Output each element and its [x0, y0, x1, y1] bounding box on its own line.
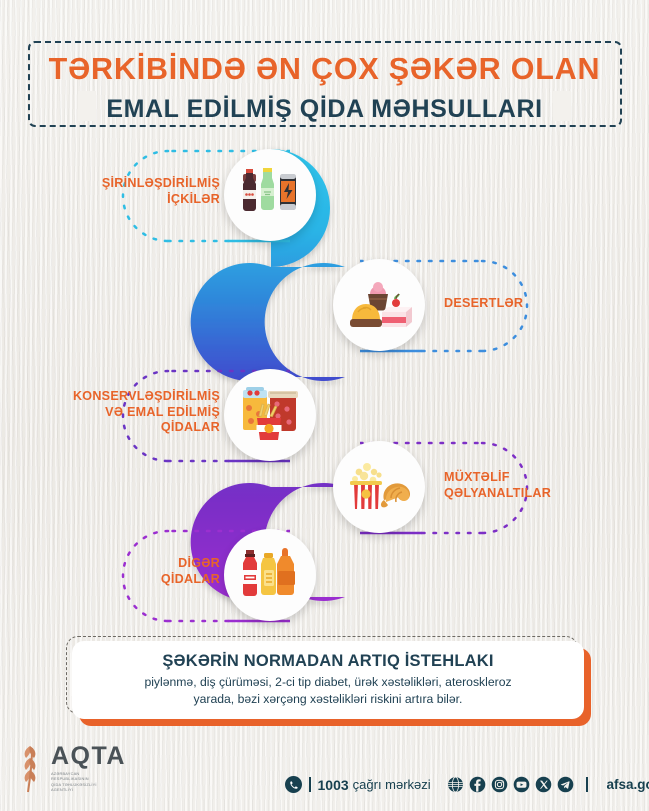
row-icon-circle-5[interactable]	[224, 529, 316, 621]
page-title-line1: TƏRKİBİNDƏ ƏN ÇOX ŞƏKƏR OLAN	[0, 52, 649, 87]
phone-icon	[285, 776, 302, 793]
aqta-logo[interactable]: AQTA AZƏRBAYCAN RESPUBLİKASININ QİDA TƏH…	[14, 742, 126, 794]
canned-food-icon	[237, 382, 303, 448]
row-label-5: DİGƏR QİDALAR	[68, 556, 220, 587]
warning-body: piylənmə, diş çürüməsi, 2-ci tip diabet,…	[144, 674, 511, 708]
row-icon-circle-4[interactable]	[333, 441, 425, 533]
logo-subtitle: AZƏRBAYCAN RESPUBLİKASININ QİDA TƏHLÜKƏS…	[51, 771, 126, 791]
call-center-label: çağrı mərkəzi	[353, 777, 431, 792]
footer-divider-1	[309, 777, 311, 792]
row-icon-circle-1[interactable]	[224, 149, 316, 241]
row-label-2: DESERTLƏR	[444, 296, 604, 312]
call-center-number: 1003	[318, 777, 349, 793]
row-label-4: MÜXTƏLİF QƏLYANALTILAR	[444, 470, 614, 501]
facebook-icon[interactable]	[469, 776, 486, 793]
logo-wordmark: AQTA	[51, 744, 126, 769]
footer-divider-2	[586, 777, 588, 792]
warning-card: ŞƏKƏRİN NORMADAN ARTIQ İSTEHLAKI piylənm…	[72, 641, 584, 719]
sauces-icon	[237, 542, 303, 608]
website-link[interactable]: afsa.gov.az	[607, 777, 649, 792]
row-label-1: ŞİRİNLƏŞDİRİLMİŞ İÇKİLƏR	[68, 176, 220, 207]
page-title-line2: EMAL EDİLMİŞ QİDA MƏHSULLARI	[0, 95, 649, 124]
instagram-icon[interactable]	[491, 776, 508, 793]
drinks-icon	[237, 162, 303, 228]
telegram-icon[interactable]	[557, 776, 574, 793]
snacks-icon	[346, 454, 412, 520]
desserts-icon	[346, 272, 412, 338]
row-icon-circle-2[interactable]	[333, 259, 425, 351]
wheat-icon	[14, 742, 46, 794]
globe-icon[interactable]	[447, 776, 464, 793]
x-icon[interactable]	[535, 776, 552, 793]
row-label-3: KONSERVLƏŞDİRİLMİŞ VƏ EMAL EDİLMİŞ QİDAL…	[62, 389, 220, 436]
call-center-info[interactable]: 1003 çağrı mərkəzi	[285, 776, 431, 793]
row-icon-circle-3[interactable]	[224, 369, 316, 461]
warning-heading: ŞƏKƏRİN NORMADAN ARTIQ İSTEHLAKI	[162, 652, 493, 671]
youtube-icon[interactable]	[513, 776, 530, 793]
footer: AQTA AZƏRBAYCAN RESPUBLİKASININ QİDA TƏH…	[0, 736, 649, 811]
social-links[interactable]: afsa.gov.az	[447, 776, 649, 793]
infographic-stage: TƏRKİBİNDƏ ƏN ÇOX ŞƏKƏR OLAN EMAL EDİLMİ…	[0, 0, 649, 811]
